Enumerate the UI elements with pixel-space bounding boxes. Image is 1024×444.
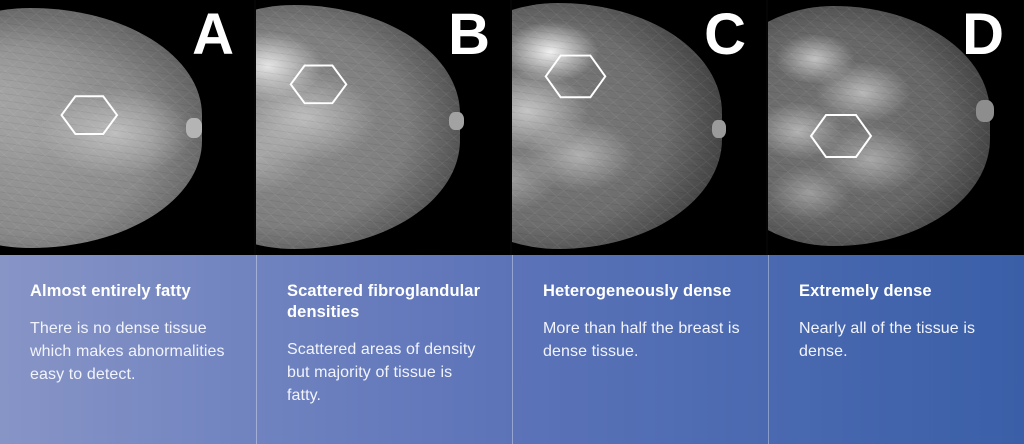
caption-cell-a: Almost entirely fatty There is no dense … bbox=[0, 255, 256, 444]
panel-letter-c: C bbox=[704, 6, 746, 64]
caption-body-b: Scattered areas of density but majority … bbox=[287, 339, 486, 407]
caption-cell-b: Scattered fibroglandular densities Scatt… bbox=[256, 255, 512, 444]
breast-density-infographic: A B C bbox=[0, 0, 1024, 444]
mammogram-image-band: A B C bbox=[0, 0, 1024, 255]
caption-title-a: Almost entirely fatty bbox=[30, 281, 230, 302]
caption-title-d: Extremely dense bbox=[799, 281, 998, 302]
caption-body-a: There is no dense tissue which makes abn… bbox=[30, 318, 230, 386]
tissue-texture-d bbox=[768, 6, 990, 246]
tissue-texture-c bbox=[512, 3, 722, 249]
nipple-marker-b bbox=[449, 112, 464, 130]
breast-silhouette-c bbox=[512, 3, 722, 249]
caption-title-b: Scattered fibroglandular densities bbox=[287, 281, 486, 323]
panel-letter-b: B bbox=[448, 6, 490, 64]
nipple-marker-d bbox=[976, 100, 994, 122]
panel-letter-d: D bbox=[962, 6, 1004, 64]
nipple-marker-a bbox=[186, 118, 202, 138]
caption-cell-c: Heterogeneously dense More than half the… bbox=[512, 255, 768, 444]
caption-body-c: More than half the breast is dense tissu… bbox=[543, 318, 742, 363]
breast-silhouette-b bbox=[256, 5, 460, 249]
breast-silhouette-d bbox=[768, 6, 990, 246]
breast-silhouette-a bbox=[0, 8, 202, 248]
caption-cell-d: Extremely dense Nearly all of the tissue… bbox=[768, 255, 1024, 444]
caption-body-d: Nearly all of the tissue is dense. bbox=[799, 318, 998, 363]
caption-title-c: Heterogeneously dense bbox=[543, 281, 742, 302]
panel-letter-a: A bbox=[192, 6, 234, 64]
caption-band: Almost entirely fatty There is no dense … bbox=[0, 255, 1024, 444]
scan-panel-d: D bbox=[768, 0, 1024, 255]
scan-panel-a: A bbox=[0, 0, 256, 255]
scan-panel-b: B bbox=[256, 0, 512, 255]
scan-panel-c: C bbox=[512, 0, 768, 255]
nipple-marker-c bbox=[712, 120, 726, 138]
tissue-texture-a bbox=[0, 8, 202, 248]
tissue-texture-b bbox=[256, 5, 460, 249]
